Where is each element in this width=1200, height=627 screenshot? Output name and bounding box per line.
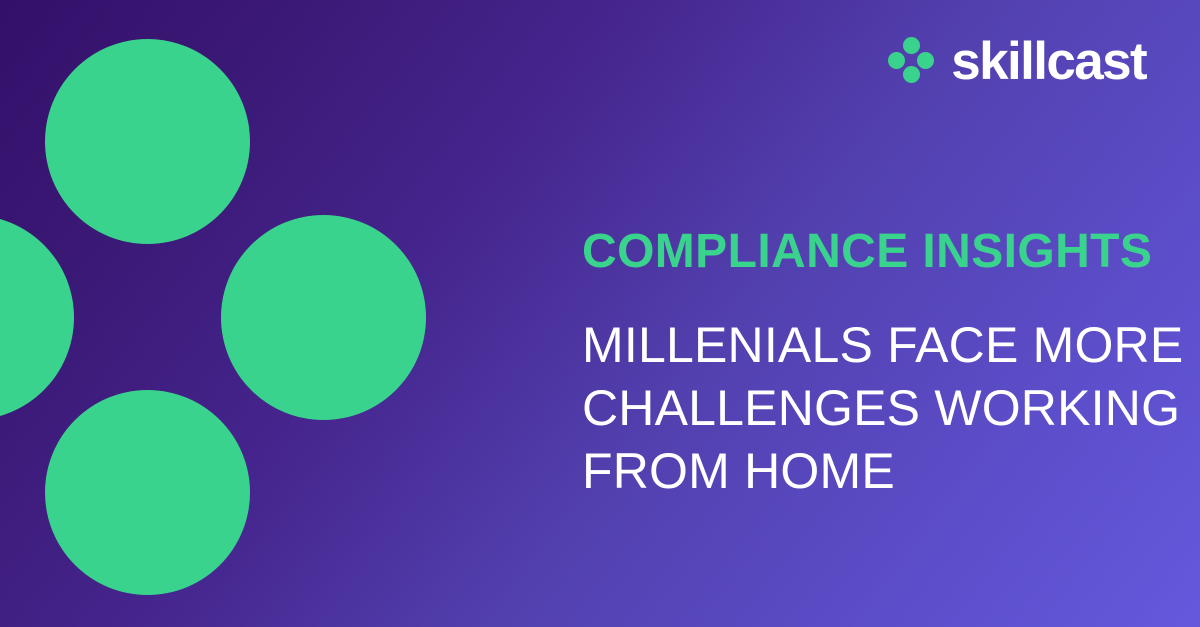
- decorative-circle-top: [45, 39, 250, 244]
- logo-dot-bottom-icon: [903, 66, 920, 83]
- headline-line-2: CHALLENGES WORKING: [582, 377, 1162, 440]
- logo-dot-right-icon: [917, 52, 934, 69]
- compliance-insights-banner: skillcast COMPLIANCE INSIGHTS MILLENIALS…: [0, 0, 1200, 627]
- decorative-circle-right: [221, 215, 426, 420]
- decorative-circle-left: [0, 215, 74, 420]
- banner-content: COMPLIANCE INSIGHTS MILLENIALS FACE MORE…: [582, 228, 1162, 503]
- skillcast-logo[interactable]: skillcast: [887, 31, 1146, 89]
- headline-line-1: MILLENIALS FACE MORE: [582, 314, 1162, 377]
- headline-line-3: FROM HOME: [582, 440, 1162, 503]
- logo-dot-top-icon: [903, 37, 920, 54]
- logo-wordmark: skillcast: [951, 35, 1146, 88]
- eyebrow-label: COMPLIANCE INSIGHTS: [582, 228, 1162, 276]
- decorative-circle-cluster: [0, 0, 460, 627]
- logo-dot-left-icon: [888, 52, 905, 69]
- page-title: MILLENIALS FACE MORE CHALLENGES WORKING …: [582, 314, 1162, 503]
- skillcast-four-dot-icon: [887, 36, 935, 84]
- decorative-circle-bottom: [45, 390, 250, 595]
